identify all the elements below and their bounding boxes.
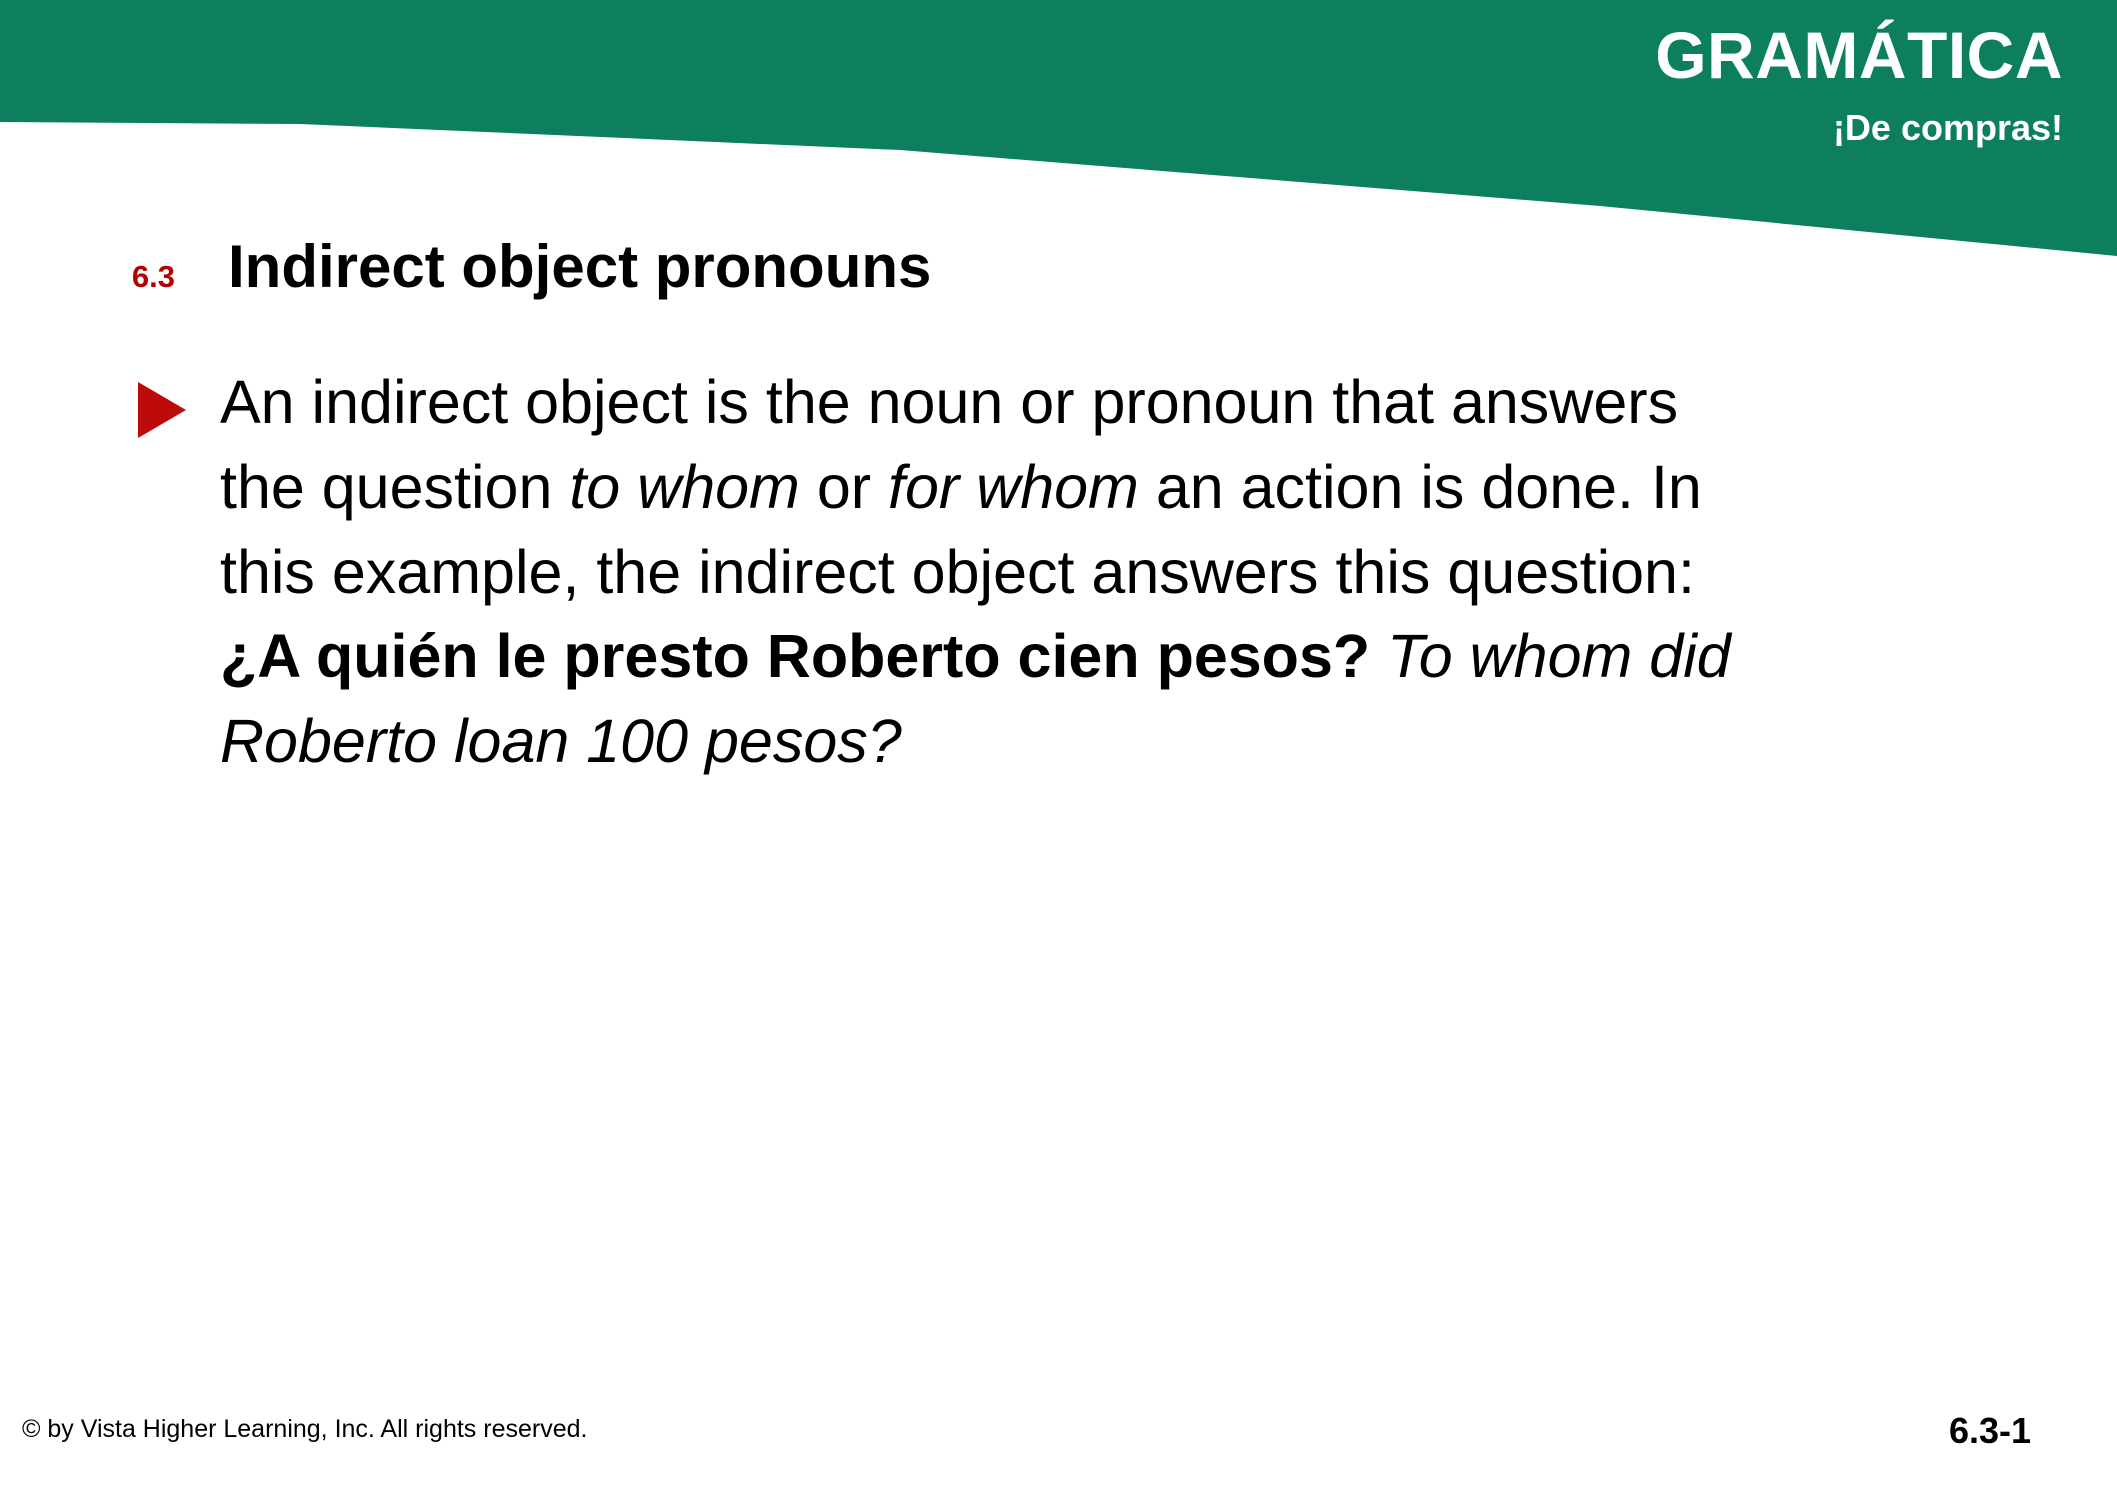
text-run-normal: [1370, 622, 1387, 690]
text-run-italic: for whom: [888, 453, 1139, 521]
text-run-italic: to whom: [569, 453, 800, 521]
triangle-bullet-icon: [138, 382, 186, 438]
header-banner: GRAMÁTICA ¡De compras!: [0, 0, 2117, 270]
header-banner-shape: [0, 0, 2117, 270]
slide: GRAMÁTICA ¡De compras! 6.3 Indirect obje…: [0, 0, 2117, 1500]
text-run-normal: or: [800, 453, 888, 521]
bullet-paragraph: An indirect object is the noun or pronou…: [220, 360, 1750, 784]
text-run-bold: ¿A quién le presto Roberto cien pesos?: [220, 622, 1370, 690]
footer-copyright: © by Vista Higher Learning, Inc. All rig…: [22, 1415, 587, 1444]
footer-page-number: 6.3-1: [1949, 1410, 2031, 1452]
bullet-list-item: An indirect object is the noun or pronou…: [138, 360, 1898, 784]
slide-title-row: 6.3 Indirect object pronouns: [0, 232, 1400, 301]
section-number: 6.3: [0, 259, 175, 295]
page-title: Indirect object pronouns: [228, 232, 931, 301]
